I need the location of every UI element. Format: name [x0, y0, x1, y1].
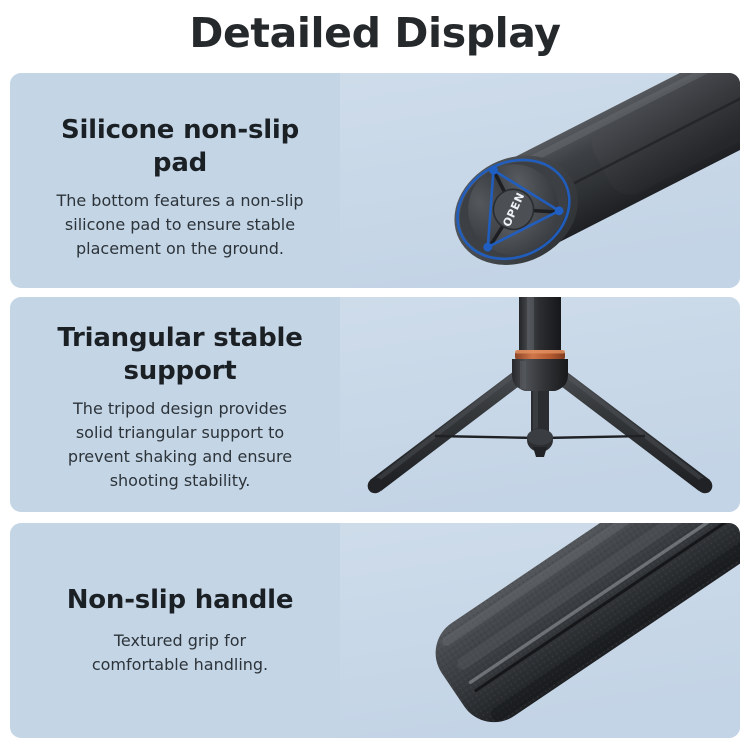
feature-card-non-slip-handle: Non-slip handle Textured grip for comfor… — [10, 523, 740, 738]
feature-card-text: Silicone non-slip pad The bottom feature… — [10, 73, 350, 288]
feature-description: The bottom features a non-slip silicone … — [49, 189, 311, 261]
feature-heading: Triangular stable support — [46, 322, 314, 388]
feature-heading: Silicone non-slip pad — [55, 114, 305, 180]
textured-handle-photo — [340, 523, 740, 738]
feature-description: Textured grip for comfortable handling. — [80, 629, 280, 677]
tripod-legs-photo — [340, 297, 740, 512]
feature-heading: Non-slip handle — [67, 584, 294, 617]
product-detail-page: Detailed Display — [0, 0, 750, 750]
feature-card-text: Non-slip handle Textured grip for comfor… — [10, 523, 350, 738]
feature-card-text: Triangular stable support The tripod des… — [10, 297, 350, 512]
feature-description: The tripod design provides solid triangu… — [54, 397, 306, 493]
tripod-end-cap-photo: OPEN — [340, 73, 740, 288]
feature-card-triangular-support: Triangular stable support The tripod des… — [10, 297, 740, 512]
page-title: Detailed Display — [0, 7, 750, 59]
feature-card-silicone-pad: OPEN Silicone non-slip pad The bottom fe… — [10, 73, 740, 288]
